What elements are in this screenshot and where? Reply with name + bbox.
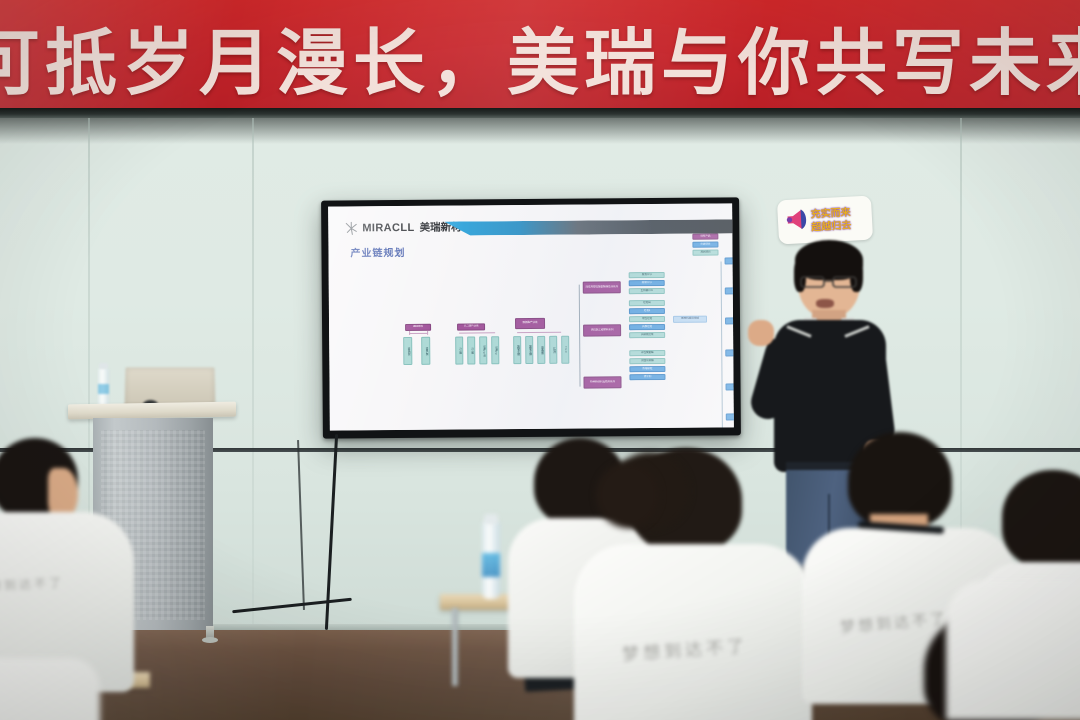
podium-foot xyxy=(202,637,218,643)
legend-item-0: 现有产品 xyxy=(692,234,718,240)
product-family-header: 改性热塑性聚氨酯弹性体系列 xyxy=(583,281,621,293)
brand-latin-text: MIRACLL xyxy=(362,221,414,233)
slide-header-ribbon xyxy=(444,219,734,235)
company-logo: MIRACLL 美瑞新材 xyxy=(344,220,461,236)
sector-label: 鞋材与运动 xyxy=(725,257,734,264)
audience-member xyxy=(0,648,100,720)
chain-node: 异氰酸酯 xyxy=(537,336,545,364)
miracll-mark-icon xyxy=(344,221,358,235)
desk-bottle-label xyxy=(482,553,500,577)
bottle-cap-icon xyxy=(99,363,108,369)
banner-lower-edge xyxy=(0,108,1080,118)
glasses-icon xyxy=(800,275,858,288)
red-banner: 可抵岁月漫长，美瑞与你共写未来篇章 xyxy=(0,0,1080,112)
product-node: 发泡TPU xyxy=(629,272,665,278)
audience-member xyxy=(946,560,1080,720)
legend-item-2: 规划项目 xyxy=(692,250,718,256)
audience-member xyxy=(596,462,666,552)
sector-label: 电子与电气 xyxy=(725,317,734,324)
slide-content: MIRACLL 美瑞新材 产业链规划 现有产品 在建项目 规划项目 基础原料 环… xyxy=(328,203,734,430)
desk-bottle-cap xyxy=(484,514,498,524)
sector-label: 汽车与轨交 xyxy=(725,287,734,294)
audience-head xyxy=(596,462,660,528)
chain-node: 己二酸 xyxy=(455,337,463,365)
product-node: 流平剂 xyxy=(629,374,665,380)
sticker-text: 充实而来 超越归去 xyxy=(810,205,867,236)
product-node: 共聚尼龙 xyxy=(629,324,665,330)
chain-node: 己二胺 xyxy=(467,336,475,364)
audience-torso xyxy=(0,658,100,720)
product-family-header: 特种新材料及助剂系列 xyxy=(583,376,621,388)
ceiling-shadow xyxy=(0,118,1080,144)
product-node: 尼龙6 xyxy=(629,308,665,314)
megaphone-icon xyxy=(783,206,811,232)
legend-item-1: 在建项目 xyxy=(692,242,718,248)
product-node: 生物基TPU xyxy=(629,288,665,294)
product-node: 热熔胶粒 xyxy=(629,366,665,372)
chain-node: 环氧丙烷 xyxy=(403,337,412,365)
chain-node: 尼龙66 xyxy=(491,336,499,364)
wall-sticker: 充实而来 超越归去 xyxy=(778,198,872,242)
audience-torso xyxy=(574,544,812,720)
podium-worktop xyxy=(68,402,236,420)
chain-node: 尼龙66盐 xyxy=(479,336,487,364)
banner-sheen xyxy=(0,0,1080,112)
chain-group-header: 己二酸产业链 xyxy=(457,323,485,330)
screen-surface: MIRACLL 美瑞新材 产业链规划 现有产品 在建项目 规划项目 基础原料 环… xyxy=(328,203,734,430)
chain-group-header: 聚氨酯产业链 xyxy=(515,318,545,329)
display-screen[interactable]: MIRACLL 美瑞新材 产业链规划 现有产品 在建项目 规划项目 基础原料 环… xyxy=(321,197,741,438)
wall-seam xyxy=(252,118,254,630)
slide-title: 产业链规划 xyxy=(350,244,405,259)
product-node: 长碳链尼龙 xyxy=(629,332,665,338)
sector-label: 医疗与健康 xyxy=(725,349,734,356)
product-family-header: 高性能工程塑料系列 xyxy=(583,324,621,336)
presenter-mouth xyxy=(816,299,834,308)
chain-node: 扩链剂 xyxy=(549,336,557,364)
product-node: 改性尼龙 xyxy=(629,316,665,322)
sector-label: 建筑与工业 xyxy=(726,383,734,390)
chain-node: 聚酯多元醇 xyxy=(525,336,533,364)
sticker-line-2: 超越归去 xyxy=(811,219,868,235)
sector-label: 消费品与包装 xyxy=(726,413,734,420)
presenter-left-fist xyxy=(748,320,774,346)
audience-torso xyxy=(946,580,1080,720)
chain-node: 聚醚多元醇 xyxy=(513,336,521,364)
photo-scene: 可抵岁月漫长，美瑞与你共写未来篇章 充实而来 超越归去 xyxy=(0,0,1080,720)
product-node: 水性聚氨酯 xyxy=(629,350,665,356)
chain-node: 环氧乙烷 xyxy=(421,337,430,365)
chain-node: TPU xyxy=(561,336,569,364)
bottle-label xyxy=(98,384,109,394)
audience-head xyxy=(1002,470,1080,568)
product-node: 耐候TPU xyxy=(629,280,665,286)
desk-leg xyxy=(452,608,458,686)
slide-legend: 现有产品 在建项目 规划项目 xyxy=(692,234,718,256)
product-node: 光固化树脂 xyxy=(629,358,665,364)
product-node: 尼龙66 xyxy=(629,300,665,306)
application-hub: 新材料应用领域 xyxy=(673,316,707,323)
